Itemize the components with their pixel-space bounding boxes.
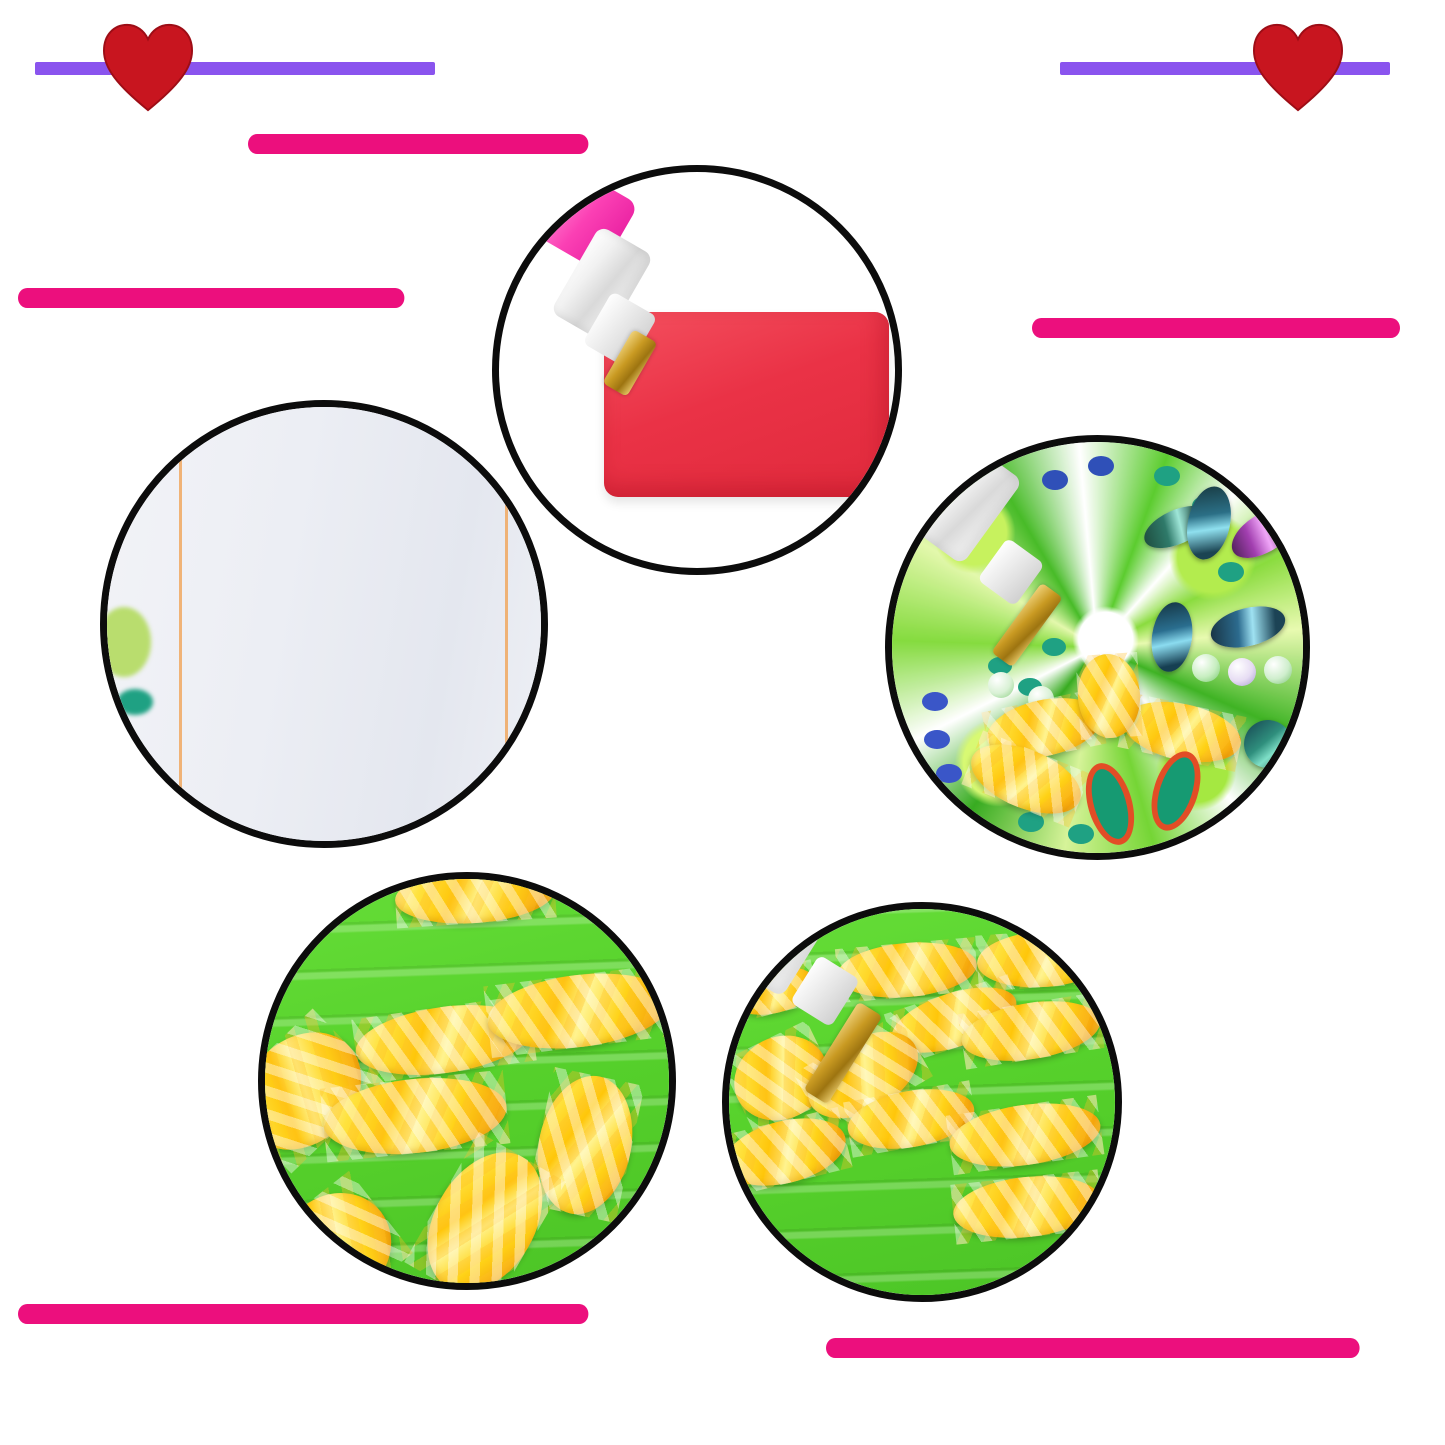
printed-dot xyxy=(936,764,962,783)
photo-press-diamond-onto-symbol xyxy=(885,435,1310,860)
yellow-diamond-held xyxy=(1075,652,1143,740)
printed-dot xyxy=(1088,456,1114,476)
printed-dot xyxy=(922,692,948,711)
photo-diamonds-in-tray xyxy=(258,872,676,1290)
heart-left-icon xyxy=(100,22,196,112)
step-1-label xyxy=(248,134,588,154)
heart-right-icon xyxy=(1250,22,1346,112)
step-3-label xyxy=(18,1304,588,1324)
ab-gem xyxy=(988,672,1014,698)
ab-gem xyxy=(1192,654,1220,682)
dark-gem xyxy=(1244,720,1292,768)
infographic-canvas xyxy=(0,0,1445,1445)
paper-edge-left xyxy=(179,407,182,848)
header-rule-left xyxy=(35,62,435,75)
printed-dot xyxy=(1042,638,1066,656)
step-4-label xyxy=(826,1338,1360,1358)
printed-dot xyxy=(1218,562,1244,582)
green-blob-b xyxy=(117,689,153,715)
photo-color-chart xyxy=(100,400,548,848)
photo-dip-pen-into-gel xyxy=(492,165,902,575)
paper-edge-right xyxy=(505,407,508,848)
ab-gem xyxy=(1264,656,1292,684)
printed-dot xyxy=(924,730,950,749)
chart-photo-bg xyxy=(107,407,541,841)
photo-pen-picks-diamond xyxy=(722,902,1122,1302)
ab-gem xyxy=(1228,658,1256,686)
printed-dot xyxy=(1068,824,1094,844)
step-2-label xyxy=(18,288,404,308)
printed-dot xyxy=(1042,470,1068,490)
printed-dot xyxy=(1154,466,1180,486)
step-5-label xyxy=(1032,318,1400,338)
